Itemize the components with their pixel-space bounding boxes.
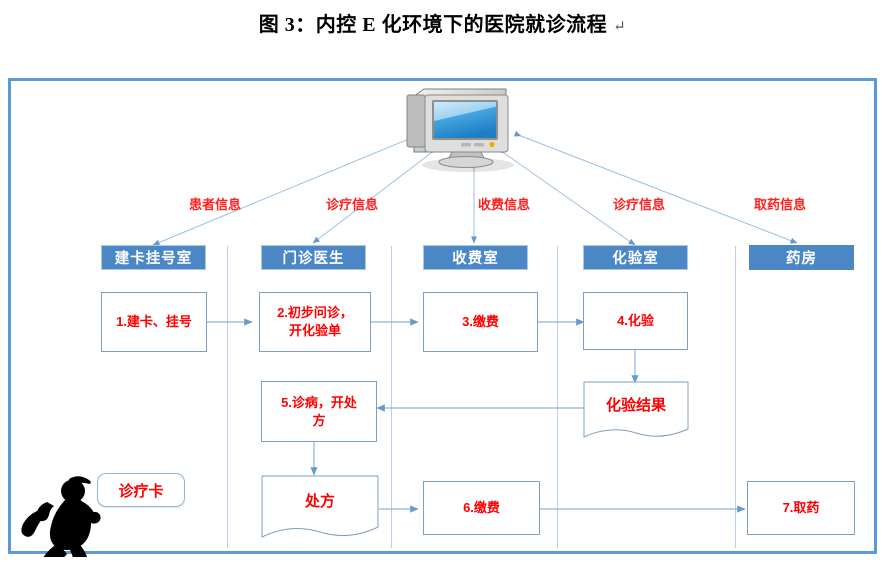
step-label: 5.诊病，开处 方 <box>281 394 357 429</box>
document-label: 化验结果 <box>583 381 689 428</box>
step-box-7[interactable]: 7.取药 <box>747 481 855 535</box>
step-box-3[interactable]: 3.缴费 <box>423 292 538 352</box>
lane-header-label: 门诊医生 <box>283 247 345 268</box>
step-box-4[interactable]: 4.化验 <box>583 292 688 350</box>
lane-header-lab[interactable]: 化验室 <box>583 245 688 270</box>
document-lab-result[interactable]: 化验结果 <box>583 381 689 443</box>
step-label: 1.建卡、挂号 <box>116 313 192 331</box>
step-label: 6.缴费 <box>463 499 500 517</box>
document-prescription[interactable]: 处方 <box>261 475 379 543</box>
lane-header-cashier[interactable]: 收费室 <box>423 245 528 270</box>
lane-separator-3 <box>557 246 558 548</box>
paragraph-mark: ↵ <box>613 19 626 35</box>
lane-header-label: 收费室 <box>452 247 499 268</box>
patient-card-label: 诊疗卡 <box>118 480 163 501</box>
lane-separator-2 <box>391 246 392 548</box>
lane-header-registration[interactable]: 建卡挂号室 <box>101 245 206 270</box>
running-person-icon <box>14 476 101 557</box>
page-title: 图 3：内控 E 化环境下的医院就诊流程↵ <box>0 8 885 37</box>
lane-header-label: 药房 <box>786 247 817 268</box>
patient-card-badge[interactable]: 诊疗卡 <box>97 473 185 507</box>
flowchart-frame: 建卡挂号室 门诊医生 收费室 化验室 药房 患者信息 诊疗信息 收费信息 诊疗信… <box>8 78 877 554</box>
lane-header-doctor[interactable]: 门诊医生 <box>261 245 366 270</box>
flow-label-dispense-info: 取药信息 <box>754 194 806 213</box>
lane-separator-4 <box>735 246 736 548</box>
lane-header-pharmacy[interactable]: 药房 <box>749 245 854 270</box>
flow-label-lab-info: 诊疗信息 <box>613 194 665 213</box>
page-title-text: 图 3：内控 E 化环境下的医院就诊流程 <box>259 14 607 36</box>
step-box-1[interactable]: 1.建卡、挂号 <box>101 292 207 352</box>
flow-label-diagnosis-info: 诊疗信息 <box>326 194 378 213</box>
step-box-6[interactable]: 6.缴费 <box>423 481 540 535</box>
flow-label-charge-info: 收费信息 <box>478 194 530 213</box>
document-label: 处方 <box>261 475 379 527</box>
lane-separator-1 <box>227 246 228 548</box>
crt-monitor-icon <box>407 89 514 172</box>
lane-header-label: 建卡挂号室 <box>115 247 193 268</box>
flow-label-patient-info: 患者信息 <box>189 194 241 213</box>
step-label: 4.化验 <box>617 312 654 330</box>
step-box-5[interactable]: 5.诊病，开处 方 <box>261 381 377 442</box>
step-box-2[interactable]: 2.初步问诊， 开化验单 <box>259 292 371 352</box>
step-label: 3.缴费 <box>462 313 499 331</box>
step-label: 7.取药 <box>783 499 820 517</box>
lane-header-label: 化验室 <box>612 247 659 268</box>
step-label: 2.初步问诊， 开化验单 <box>277 304 353 339</box>
